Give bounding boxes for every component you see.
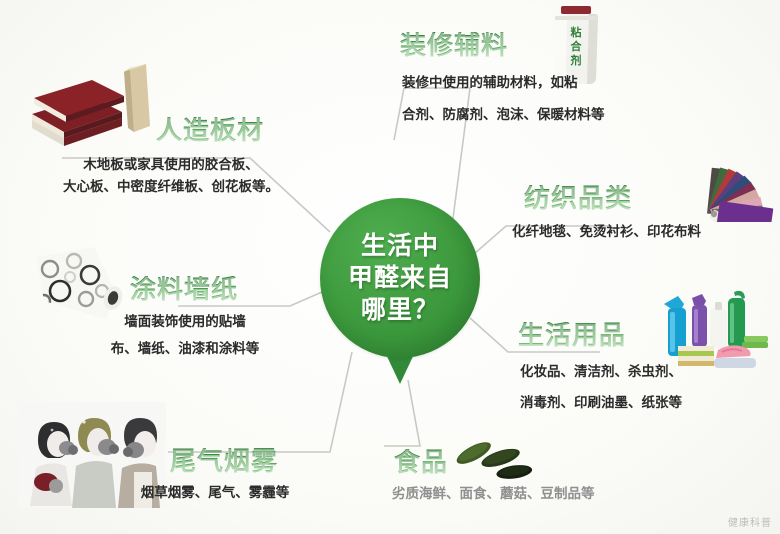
section-exhaust-smoke-heading: 尾气烟雾 — [170, 448, 340, 477]
section-decoration-aux-desc-line-2: 合剂、防腐剂、泡沫、保暖材料等 — [402, 106, 722, 126]
section-daily-goods-desc-line-1: 化妆品、清洁剂、杀虫剂、 — [520, 363, 780, 383]
section-decoration-aux-heading: 装修辅料 — [400, 32, 722, 61]
section-decoration-aux-desc-line-1: 装修中使用的辅助材料，如粘 — [402, 74, 722, 94]
section-exhaust-smoke[interactable]: 尾气烟雾 烟草烟雾、尾气、雾霾等 — [90, 448, 340, 503]
section-food-desc-line-1: 劣质海鲜、面食、蘑菇、豆制品等 — [392, 485, 692, 505]
section-artificial-board[interactable]: 人造板材 木地板或家具使用的胶合板、 大心板、中密度纤维板、创花板等。 — [6, 62, 336, 197]
section-daily-goods-desc-line-2: 消毒剂、印刷油墨、纸张等 — [520, 394, 780, 414]
section-textiles-heading: 纺织品类 — [524, 185, 780, 214]
section-artificial-board-desc-line-1: 木地板或家具使用的胶合板、 — [6, 156, 336, 176]
section-paint-wallpaper-desc-line-1: 墙面装饰使用的贴墙 — [60, 313, 310, 333]
section-exhaust-smoke-desc-line-1: 烟草烟雾、尾气、雾霾等 — [90, 484, 340, 504]
section-paint-wallpaper-heading: 涂料墙纸 — [130, 276, 310, 305]
section-artificial-board-heading: 人造板材 — [156, 117, 264, 146]
infographic-canvas: 粘 合 剂 — [0, 0, 780, 534]
section-food-heading: 食品 — [394, 449, 692, 478]
watermark: 健康科普 — [728, 514, 772, 529]
center-bubble — [320, 198, 480, 358]
section-textiles-desc-line-1: 化纤地毯、免烫衬衫、印花布料 — [512, 223, 780, 243]
section-textiles[interactable]: 纺织品类 化纤地毯、免烫衬衫、印花布料 — [510, 185, 780, 242]
section-food[interactable]: 食品 劣质海鲜、面食、蘑菇、豆制品等 — [392, 449, 692, 504]
section-daily-goods-heading: 生活用品 — [518, 322, 780, 351]
section-decoration-aux[interactable]: 装修辅料 装修中使用的辅助材料，如粘 合剂、防腐剂、泡沫、保暖材料等 — [392, 32, 722, 126]
section-artificial-board-headrow: 人造板材 — [6, 62, 336, 154]
section-artificial-board-desc-line-2: 大心板、中密度纤维板、创花板等。 — [6, 178, 336, 198]
section-daily-goods[interactable]: 生活用品 化妆品、清洁剂、杀虫剂、 消毒剂、印刷油墨、纸张等 — [510, 322, 780, 414]
section-paint-wallpaper-desc-line-2: 布、墙纸、油漆和涂料等 — [60, 340, 310, 360]
section-paint-wallpaper[interactable]: 涂料墙纸 墙面装饰使用的贴墙 布、墙纸、油漆和涂料等 — [60, 276, 310, 360]
